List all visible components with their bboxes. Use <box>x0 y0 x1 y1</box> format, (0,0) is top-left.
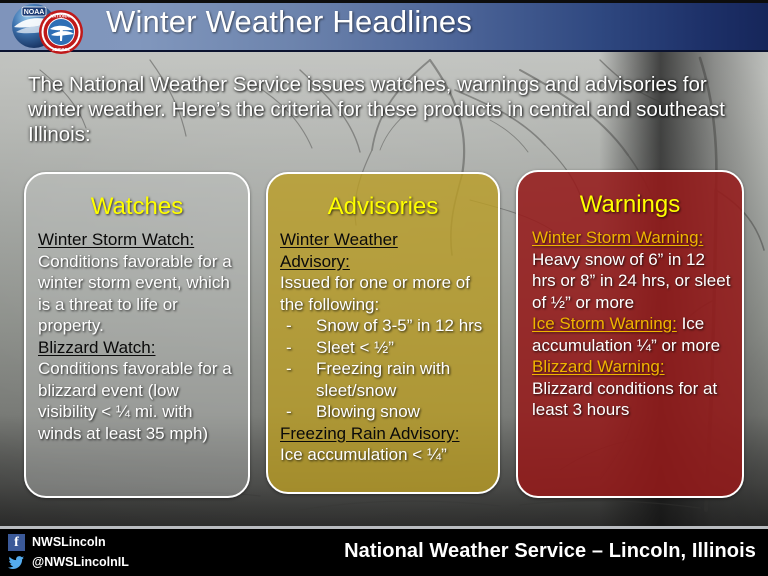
list-item: - Snow of 3-5” in 12 hrs <box>284 315 488 337</box>
slide-canvas: NOAA NATIONAL SERVICE Winter Weather Hea… <box>0 0 768 576</box>
advisories-bullet-2: Freezing rain with sleet/snow <box>316 359 450 400</box>
advisories-heading-line1: Winter Weather <box>280 230 398 249</box>
watches-entry-1-body: Conditions favorable for a blizzard even… <box>38 359 232 443</box>
page-title: Winter Weather Headlines <box>106 4 472 40</box>
panel-warnings-body: Winter Storm Warning: Heavy snow of 6” i… <box>528 227 732 421</box>
dash-marker-icon: - <box>286 315 292 337</box>
facebook-icon[interactable]: f <box>8 534 25 551</box>
warnings-entry-2-body: Blizzard conditions for at least 3 hours <box>532 379 717 420</box>
social-links: f NWSLincoln @NWSLincolnIL <box>8 534 129 571</box>
advisories-bullet-0: Snow of 3-5” in 12 hrs <box>316 316 482 335</box>
watches-entry-0-body: Conditions favorable for a winter storm … <box>38 252 232 336</box>
advisories-heading-line2: Advisory: <box>280 252 350 271</box>
list-item: - Sleet < ½” <box>284 337 488 359</box>
warnings-entry-2-heading: Blizzard Warning: <box>532 357 665 376</box>
list-item: - Blowing snow <box>284 401 488 423</box>
slide-header-bar: NOAA NATIONAL SERVICE Winter Weather Hea… <box>0 0 768 52</box>
advisories-intro-text: Issued for one or more of the following: <box>280 273 470 314</box>
watches-entry-0-heading: Winter Storm Watch: <box>38 230 194 249</box>
svg-text:NATIONAL: NATIONAL <box>50 14 72 19</box>
svg-text:SERVICE: SERVICE <box>52 47 71 52</box>
panel-watches: Watches Winter Storm Watch: Conditions f… <box>24 172 250 498</box>
office-name: National Weather Service – Lincoln, Illi… <box>344 540 756 563</box>
advisories-heading-2: Freezing Rain Advisory: <box>280 424 460 443</box>
twitter-handle: @NWSLincolnIL <box>32 556 129 569</box>
warnings-entry-1-heading: Ice Storm Warning: <box>532 314 677 333</box>
advisories-bullet-3: Blowing snow <box>316 402 420 421</box>
list-item: - Freezing rain with sleet/snow <box>284 358 488 401</box>
advisories-criteria-list: - Snow of 3-5” in 12 hrs - Sleet < ½” - … <box>280 315 488 423</box>
panel-advisories: Advisories Winter Weather Advisory: Issu… <box>266 172 500 494</box>
advisories-bullet-1: Sleet < ½” <box>316 338 394 357</box>
watches-entry-1-heading: Blizzard Watch: <box>38 338 155 357</box>
dash-marker-icon: - <box>286 358 292 380</box>
intro-paragraph: The National Weather Service issues watc… <box>28 72 740 147</box>
dash-marker-icon: - <box>286 401 292 423</box>
panel-advisories-title: Advisories <box>278 194 488 220</box>
facebook-link[interactable]: f NWSLincoln <box>8 534 129 551</box>
warnings-entry-0-body: Heavy snow of 6” in 12 hrs or 8” in 24 h… <box>532 250 730 312</box>
panel-warnings-title: Warnings <box>528 192 732 218</box>
dash-marker-icon: - <box>286 337 292 359</box>
panel-advisories-body: Winter Weather Advisory: Issued for one … <box>278 229 488 466</box>
warnings-entry-0-heading: Winter Storm Warning: <box>532 228 703 247</box>
advisories-body-2: Ice accumulation < ¼” <box>280 445 447 464</box>
panel-watches-title: Watches <box>36 194 238 220</box>
nws-logo-icon: NATIONAL SERVICE <box>38 9 84 55</box>
twitter-link[interactable]: @NWSLincolnIL <box>8 554 129 571</box>
facebook-handle: NWSLincoln <box>32 536 106 549</box>
twitter-bird-icon[interactable] <box>8 554 25 571</box>
panel-watches-body: Winter Storm Watch: Conditions favorable… <box>36 229 238 444</box>
slide-footer-bar: f NWSLincoln @NWSLincolnIL National Weat… <box>0 526 768 576</box>
panel-warnings: Warnings Winter Storm Warning: Heavy sno… <box>516 170 744 498</box>
